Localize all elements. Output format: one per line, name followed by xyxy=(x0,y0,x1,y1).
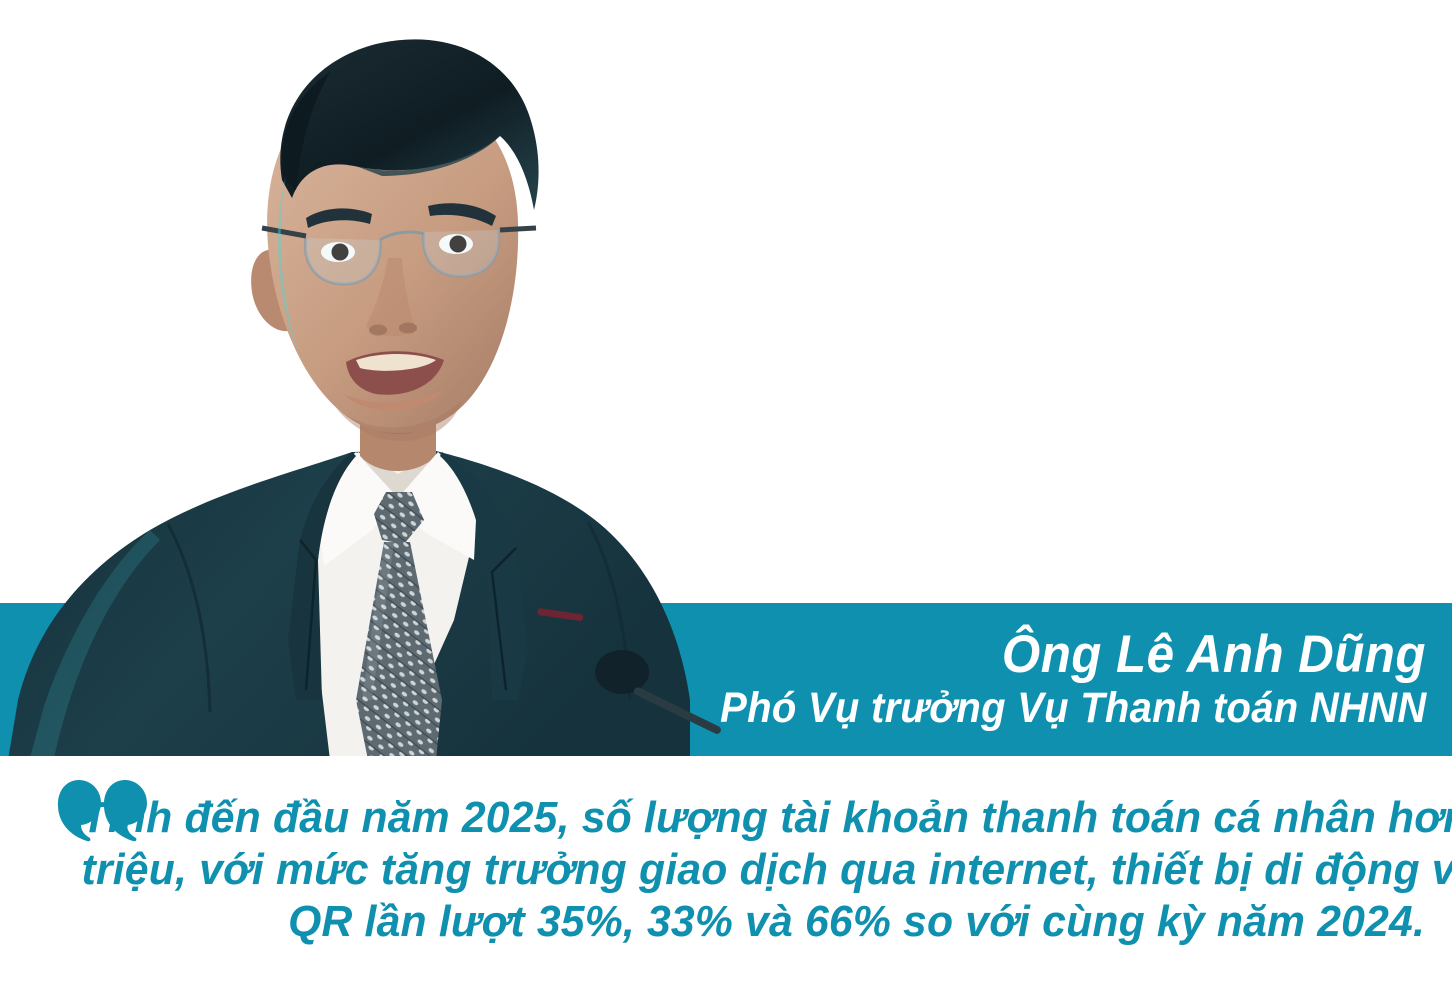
quote-card: Ông Lê Anh Dũng Phó Vụ trưởng Vụ Thanh t… xyxy=(0,0,1452,1000)
speaker-portrait xyxy=(0,0,760,756)
quote-line-1: Tính đến đầu năm 2025, số lượng tài khoả… xyxy=(82,792,1425,844)
nostril-right xyxy=(399,323,417,334)
quote-line-3: QR lần lượt 35%, 33% và 66% so với cùng … xyxy=(82,896,1425,948)
photo-area: Ông Lê Anh Dũng Phó Vụ trưởng Vụ Thanh t… xyxy=(0,0,1452,756)
nostril-left xyxy=(369,325,387,336)
quote-text: Tính đến đầu năm 2025, số lượng tài khoả… xyxy=(40,792,1425,948)
quote-line-2: triệu, với mức tăng trưởng giao dịch qua… xyxy=(82,844,1425,896)
